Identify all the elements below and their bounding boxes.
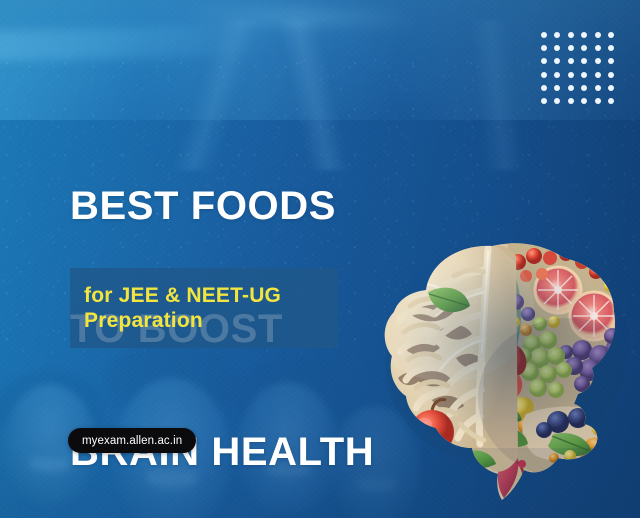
grid-dot xyxy=(541,85,547,91)
grid-dot xyxy=(554,72,560,78)
grid-dot xyxy=(554,85,560,91)
subtitle-line-1: for JEE & NEET-UG xyxy=(84,283,338,308)
grid-dot xyxy=(568,32,574,38)
grid-dot xyxy=(541,98,547,104)
grid-dot xyxy=(541,45,547,51)
grid-dot xyxy=(608,72,614,78)
grid-dot xyxy=(568,45,574,51)
grid-dot xyxy=(568,98,574,104)
grid-dot xyxy=(541,58,547,64)
brain-made-of-fruits-and-vegetables xyxy=(368,218,640,508)
website-url-pill[interactable]: myexam.allen.ac.in xyxy=(68,428,196,453)
grid-dot xyxy=(608,85,614,91)
website-url-text: myexam.allen.ac.in xyxy=(82,435,182,447)
grid-dot xyxy=(568,72,574,78)
grid-dot xyxy=(608,58,614,64)
dot-grid-pattern xyxy=(537,28,618,108)
subtitle-line-2: Preparation xyxy=(84,308,338,333)
grid-dot xyxy=(595,85,601,91)
grid-dot xyxy=(568,85,574,91)
grid-dot xyxy=(581,72,587,78)
grid-dot xyxy=(581,85,587,91)
brain-drop-shadow xyxy=(392,252,620,442)
poster-canvas: BEST FOODS TO BOOST BRAIN HEALTH for JEE… xyxy=(0,0,640,518)
grid-dot xyxy=(541,32,547,38)
grid-dot xyxy=(595,32,601,38)
headline-line-1: BEST FOODS xyxy=(70,186,374,227)
grid-dot xyxy=(608,98,614,104)
grid-dot xyxy=(581,98,587,104)
grid-dot xyxy=(581,32,587,38)
grid-dot xyxy=(581,58,587,64)
grid-dot xyxy=(595,58,601,64)
grid-dot xyxy=(554,45,560,51)
grid-dot xyxy=(581,45,587,51)
grid-dot xyxy=(595,98,601,104)
grid-dot xyxy=(554,32,560,38)
grid-dot xyxy=(568,58,574,64)
grid-dot xyxy=(541,72,547,78)
subtitle-banner: for JEE & NEET-UG Preparation xyxy=(70,268,338,348)
grid-dot xyxy=(608,45,614,51)
grid-dot xyxy=(554,98,560,104)
grid-dot xyxy=(595,72,601,78)
grid-dot xyxy=(554,58,560,64)
grid-dot xyxy=(608,32,614,38)
grid-dot xyxy=(595,45,601,51)
